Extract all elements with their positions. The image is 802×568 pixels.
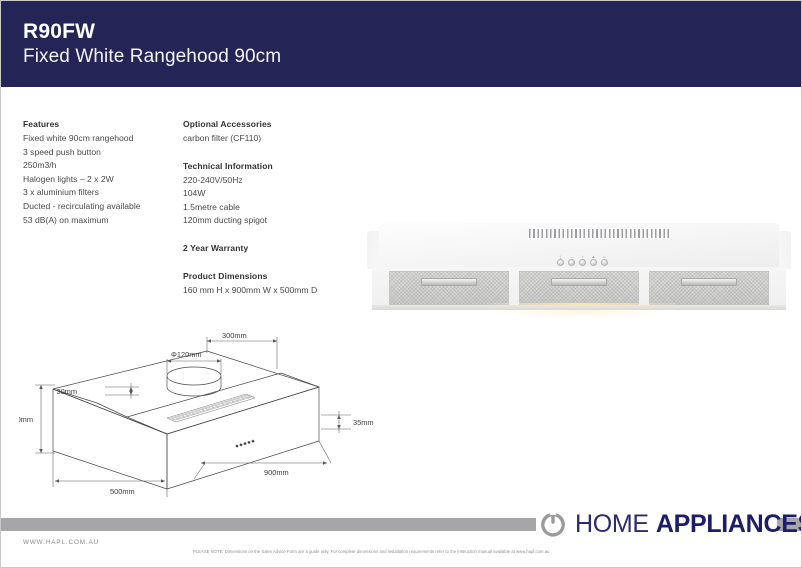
push-button-speed-2[interactable]: [579, 259, 586, 266]
product-photo: | – + ▲ ☼: [367, 223, 791, 323]
button-marking: ▲: [591, 255, 596, 257]
optional-accessories-heading: Optional Accessories: [183, 119, 363, 129]
dim-label-front-lip: 35mm: [353, 418, 374, 427]
logo-word-appliances: APPLIANCES: [656, 510, 802, 539]
features-item: Halogen lights – 2 x 2W: [23, 173, 173, 187]
drawing-left-face: [53, 389, 167, 489]
features-column: Features Fixed white 90cm rangehood 3 sp…: [23, 119, 173, 227]
drawing-canopy-edge-mid: [127, 417, 167, 434]
drawing-canopy-edge-right: [281, 373, 319, 387]
features-heading: Features: [23, 119, 173, 129]
brand-logo: HOME APPLIANCES: [538, 506, 802, 542]
technical-drawing: Φ120mm 300mm 30mm 160mm 35mm 900mm 500mm: [19, 329, 395, 497]
filter-handle: [551, 278, 607, 286]
mesh-filter-panel: [519, 271, 639, 305]
push-button-light[interactable]: [601, 259, 608, 266]
dim-label-depth: 500mm: [110, 487, 135, 496]
footer-disclaimer: PLEASE NOTE: Dimensions on the Sales Adv…: [193, 549, 549, 554]
technical-column: Optional Accessories carbon filter (CF11…: [183, 119, 363, 298]
mesh-filter-panel: [649, 271, 769, 305]
dim-label-width: 900mm: [264, 468, 289, 477]
features-item: Fixed white 90cm rangehood: [23, 132, 173, 146]
features-item: 3 speed push button: [23, 146, 173, 160]
drawing-control-marking: [236, 440, 255, 447]
technical-information-item: 104W: [183, 187, 363, 201]
drawing-front-face: [167, 387, 319, 489]
footer-website-url[interactable]: WWW.HAPL.COM.AU: [23, 539, 99, 546]
hood-front-lip: [372, 305, 786, 310]
mesh-filter-panel: [389, 271, 509, 305]
dim-label-duct-offset: 300mm: [222, 331, 247, 340]
technical-information-item: 220-240V/50Hz: [183, 174, 363, 188]
technical-drawing-svg: Φ120mm 300mm 30mm 160mm 35mm 900mm 500mm: [19, 329, 395, 497]
technical-information-item: 120mm ducting spigot: [183, 214, 363, 228]
product-dimensions-heading: Product Dimensions: [183, 271, 363, 281]
power-button-icon: [538, 509, 568, 539]
push-button-speed-1[interactable]: [568, 259, 575, 266]
push-button-speed-off[interactable]: [557, 259, 564, 266]
optional-accessories-item: carbon filter (CF110): [183, 132, 363, 146]
technical-information-heading: Technical Information: [183, 161, 363, 171]
footer-rule-left: [1, 518, 536, 531]
push-button-panel: | – + ▲ ☼: [557, 255, 615, 268]
filter-handle: [681, 278, 737, 286]
dim-label-duct-diameter: Φ120mm: [171, 350, 202, 359]
features-item: 53 dB(A) on maximum: [23, 214, 173, 228]
spec-sheet-page: R90FW Fixed White Rangehood 90cm Feature…: [0, 0, 802, 568]
logo-word-home: HOME: [575, 510, 649, 539]
features-item: Ducted - recirculating available: [23, 200, 173, 214]
button-marking: +: [580, 255, 585, 257]
spacer: [183, 256, 363, 271]
drawing-duct-top: [167, 367, 221, 385]
spacer: [183, 146, 363, 161]
dim-label-duct-height: 30mm: [56, 387, 77, 396]
features-item: 250m3/h: [23, 159, 173, 173]
filter-handle: [421, 278, 477, 286]
dim-label-height: 160mm: [19, 415, 33, 424]
technical-information-item: 1.5metre cable: [183, 201, 363, 215]
drawing-top-surface: [53, 351, 319, 434]
product-model-code: R90FW: [23, 20, 95, 44]
page-title: Fixed White Rangehood 90cm: [23, 46, 281, 68]
button-marking: –: [569, 255, 574, 257]
button-marking: |: [558, 255, 563, 257]
button-marking: ☼: [602, 255, 607, 257]
drawing-vent-grille: [167, 394, 255, 422]
product-dimensions-value: 160 mm H x 900mm W x 500mm D: [183, 284, 363, 298]
drawing-duct-bottom: [167, 387, 221, 396]
features-item: 3 x aluminium filters: [23, 186, 173, 200]
hood-vent-slots: [529, 229, 669, 238]
page-header: R90FW Fixed White Rangehood 90cm: [1, 1, 802, 87]
warranty-heading: 2 Year Warranty: [183, 243, 363, 253]
spacer: [183, 228, 363, 243]
push-button-speed-3[interactable]: [590, 259, 597, 266]
